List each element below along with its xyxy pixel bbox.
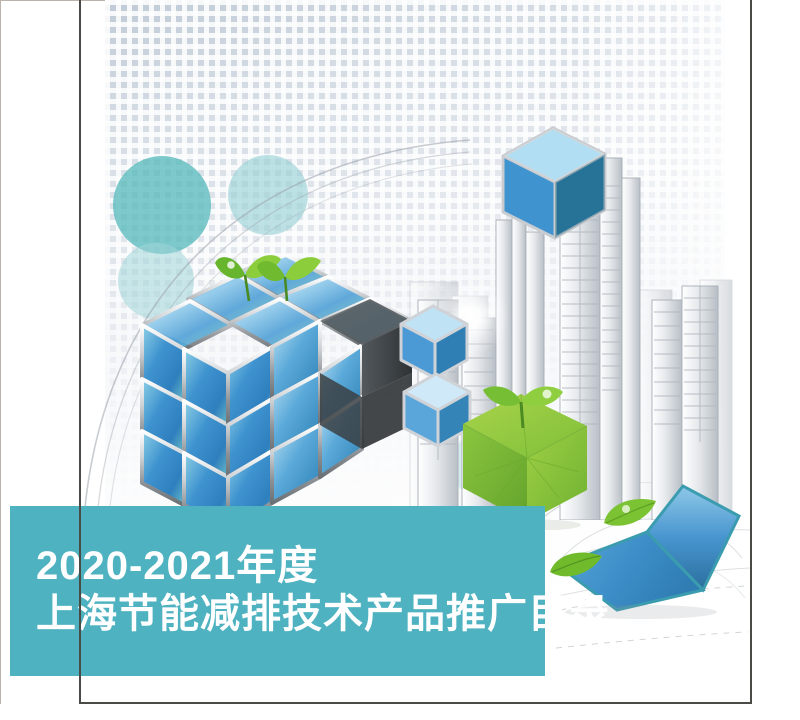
loose-leaf-2 xyxy=(548,548,606,584)
sprout-seedlings xyxy=(215,243,335,305)
frame-line-bottom xyxy=(79,702,752,704)
title-banner: 2020-2021年度 上海节能减排技术产品推广目录 xyxy=(10,506,545,676)
floating-cube-top xyxy=(495,120,615,250)
book-cover: 2020-2021年度 上海节能减排技术产品推广目录 xyxy=(0,0,800,720)
page-title: 上海节能减排技术产品推广目录 xyxy=(36,592,545,637)
frame-line-right xyxy=(750,0,752,704)
title-year-range: 2020-2021年度 xyxy=(36,545,545,587)
loose-leaf-1 xyxy=(600,495,660,533)
frame-line-left xyxy=(79,0,81,704)
